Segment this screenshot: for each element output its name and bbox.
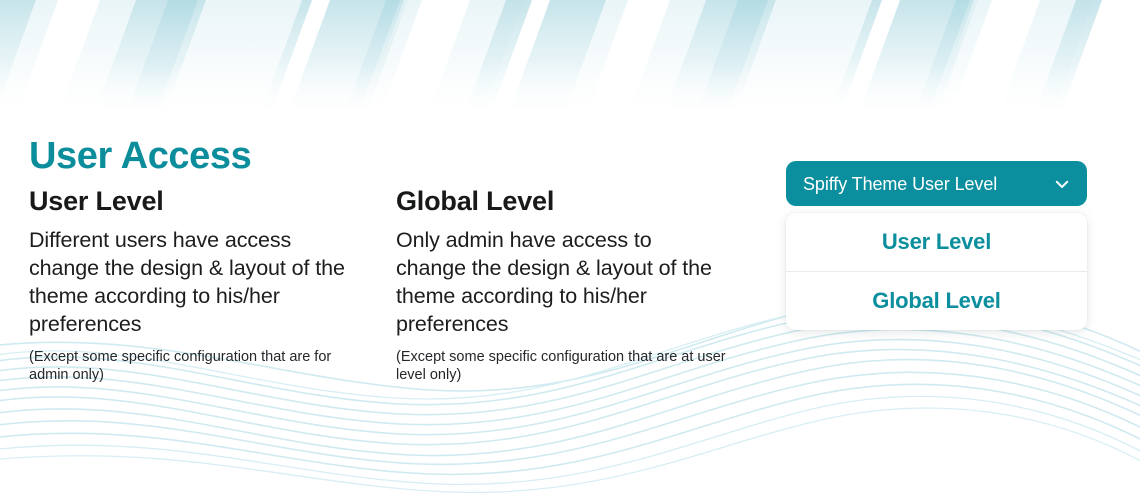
chevron-down-icon (1053, 175, 1071, 193)
dropdown-toggle-button[interactable]: Spiffy Theme User Level (786, 161, 1087, 206)
column-note-text: (Except some specific configuration that… (396, 348, 726, 384)
dropdown-selected-label: Spiffy Theme User Level (803, 173, 1053, 195)
user-level-dropdown: Spiffy Theme User Level User Level Globa… (786, 161, 1087, 330)
column-heading: User Level (29, 184, 374, 218)
column-body-text: Only admin have access to change the des… (396, 226, 716, 338)
column-global-level: Global Level Only admin have access to c… (396, 184, 741, 384)
dropdown-menu: User Level Global Level (786, 213, 1087, 330)
column-heading: Global Level (396, 184, 741, 218)
column-note-text: (Except some specific configuration that… (29, 348, 359, 384)
dropdown-option-global-level[interactable]: Global Level (786, 271, 1087, 330)
page-title: User Access (29, 133, 251, 179)
column-body-text: Different users have access change the d… (29, 226, 349, 338)
column-user-level: User Level Different users have access c… (29, 184, 374, 384)
dropdown-option-user-level[interactable]: User Level (786, 213, 1087, 271)
page-content: User Access User Level Different users h… (0, 0, 1140, 500)
